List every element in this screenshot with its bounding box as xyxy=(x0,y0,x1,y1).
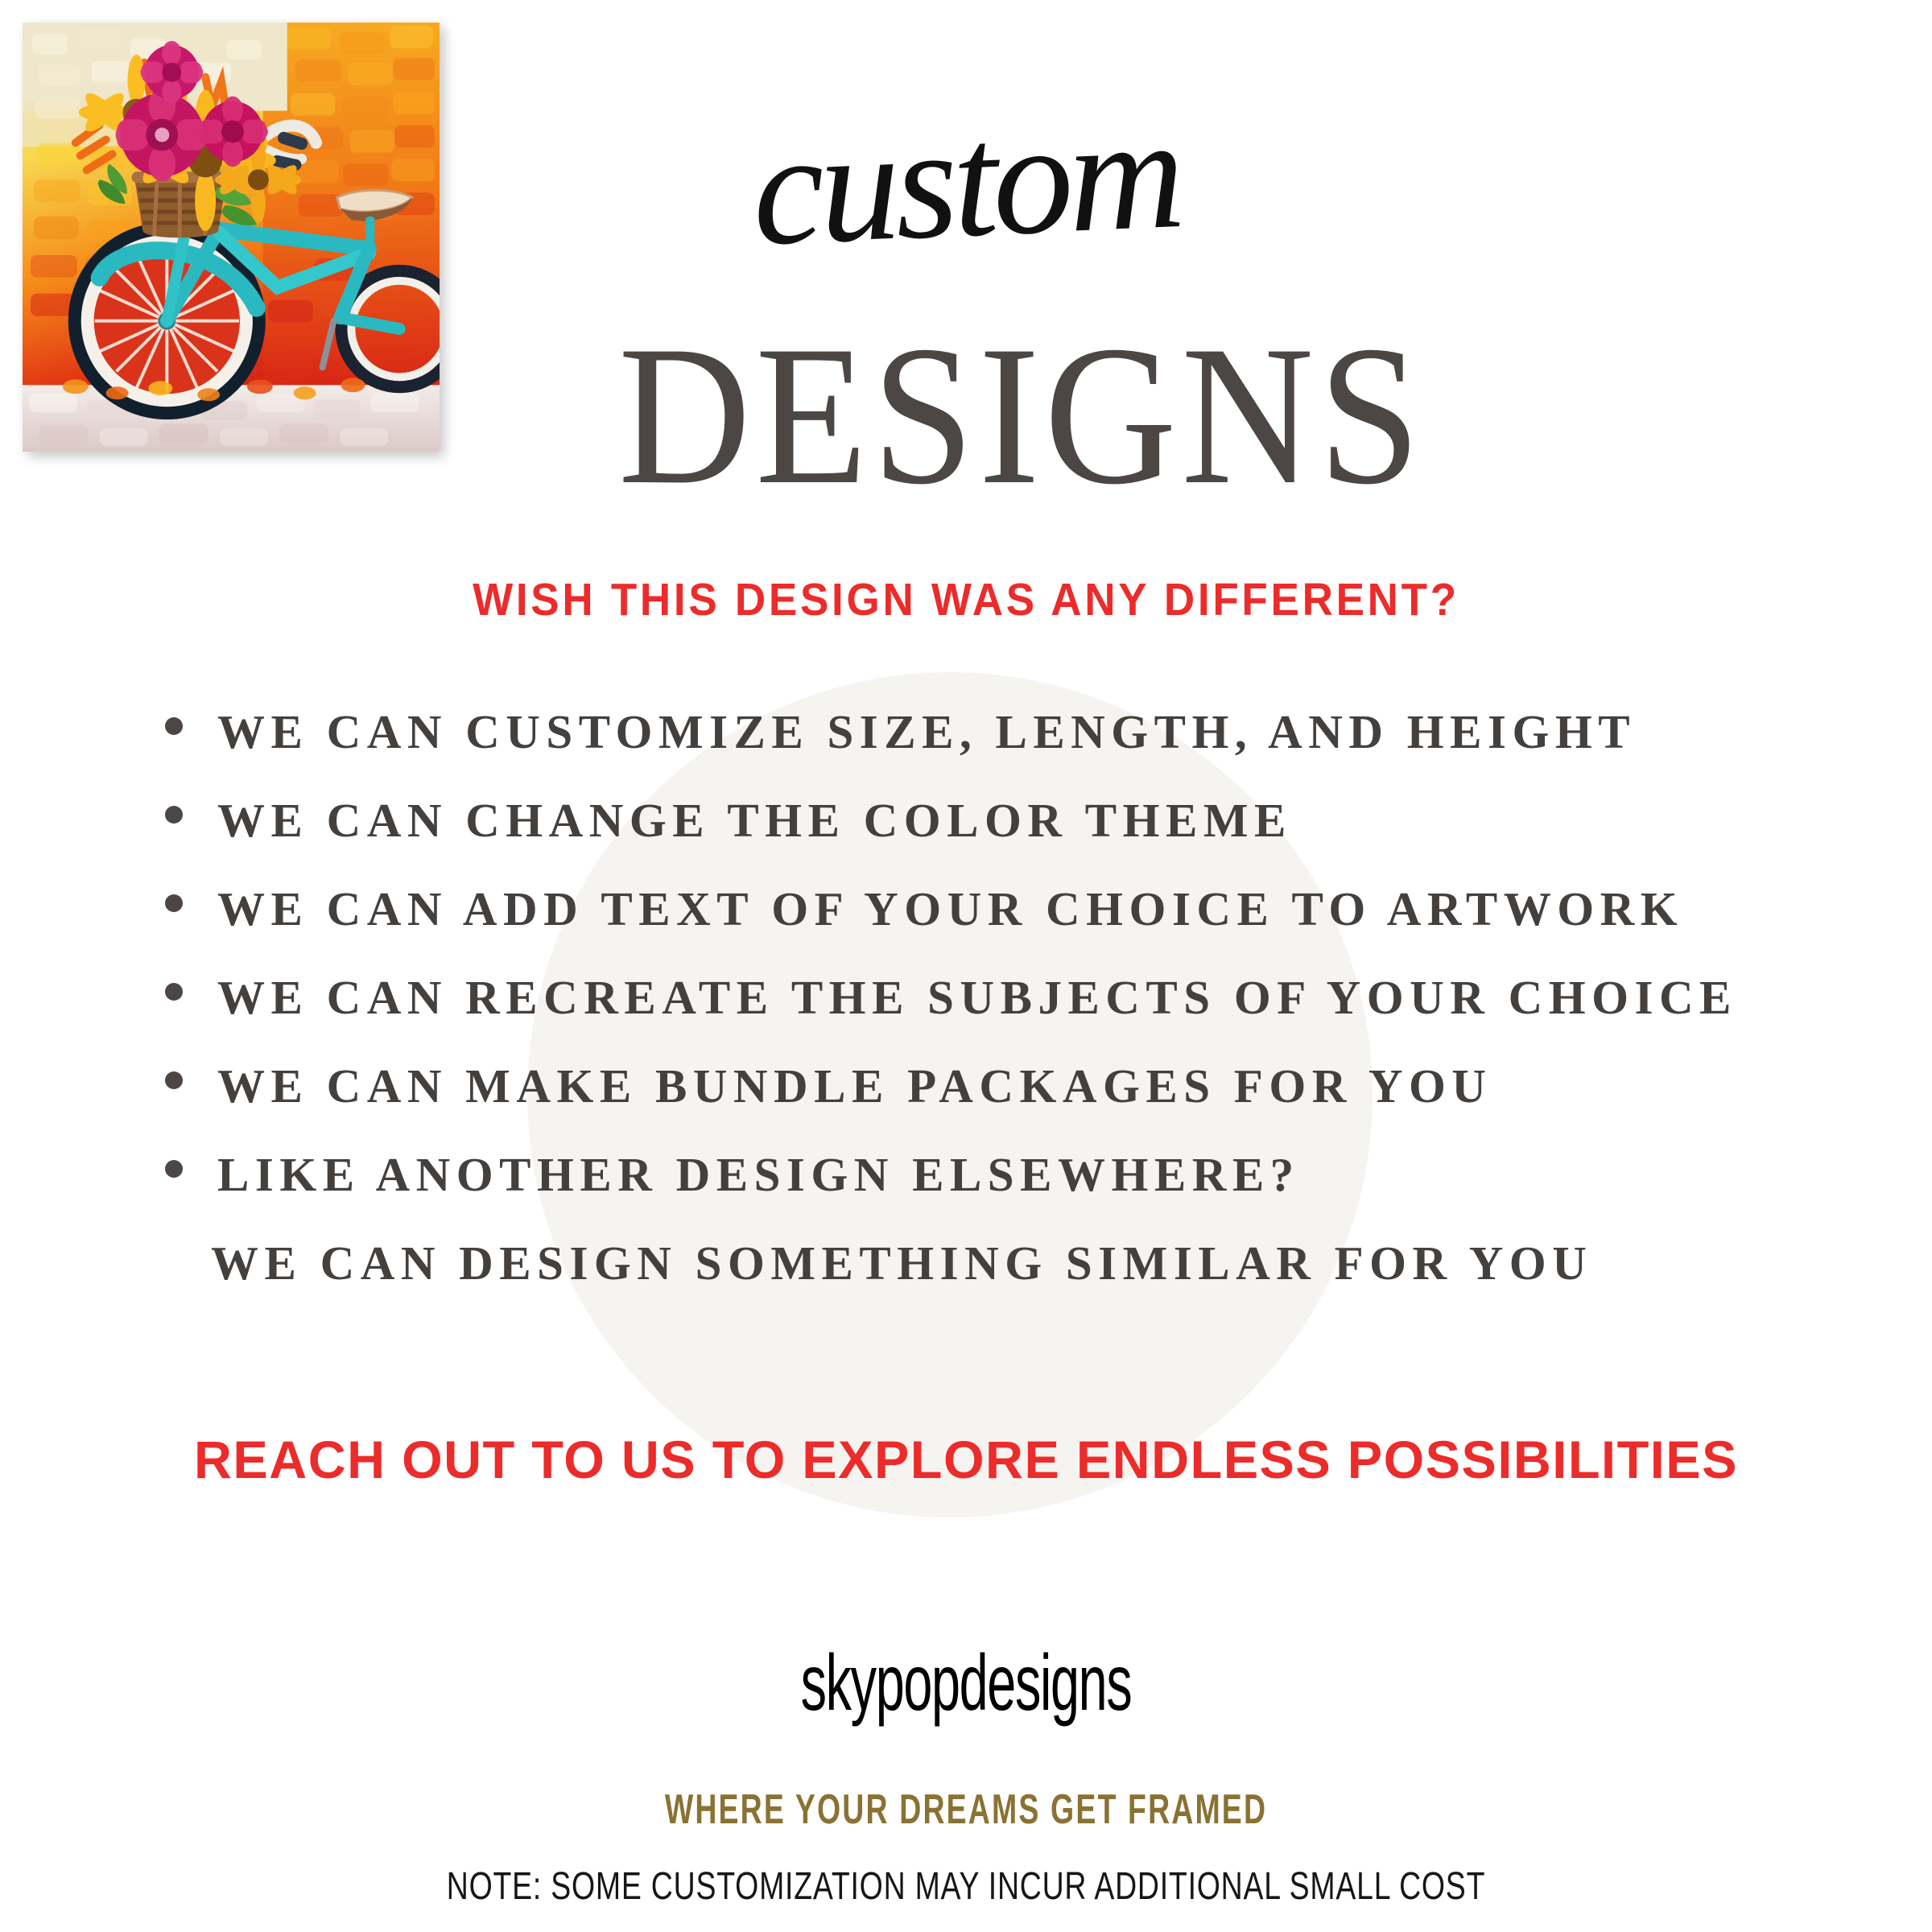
list-item: WE CAN CUSTOMIZE SIZE, LENGTH, AND HEIGH… xyxy=(0,708,1932,797)
bullet-dot-icon xyxy=(165,717,183,735)
list-item-label: WE CAN CUSTOMIZE SIZE, LENGTH, AND HEIGH… xyxy=(217,708,1636,756)
brand-tagline: WHERE YOUR DREAMS GET FRAMED xyxy=(270,1785,1662,1834)
bullet-dot-icon xyxy=(165,1160,183,1178)
footer-note: NOTE: SOME CUSTOMIZATION MAY INCUR ADDIT… xyxy=(213,1864,1719,1909)
bullet-dot-icon xyxy=(165,894,183,912)
list-item-label: WE CAN RECREATE THE SUBJECTS OF YOUR CHO… xyxy=(217,974,1737,1022)
list-item: LIKE ANOTHER DESIGN ELSEWHERE? xyxy=(0,1151,1932,1240)
bullet-dot-icon xyxy=(165,1071,183,1089)
call-to-action-text: REACH OUT TO US TO EXPLORE ENDLESS POSSI… xyxy=(14,1429,1918,1490)
brand-logo-wordmark: skypopdesigns xyxy=(328,1637,1604,1728)
feature-list: WE CAN CUSTOMIZE SIZE, LENGTH, AND HEIGH… xyxy=(0,708,1932,1328)
bullet-dot-icon xyxy=(165,806,183,824)
page-subtitle: WISH THIS DESIGN WAS ANY DIFFERENT? xyxy=(68,573,1864,626)
list-item-label: WE CAN MAKE BUNDLE PACKAGES FOR YOU xyxy=(217,1063,1492,1110)
bicycle-painting-illustration xyxy=(23,23,440,452)
list-item-continuation: WE CAN DESIGN SOMETHING SIMILAR FOR YOU xyxy=(0,1240,1932,1328)
list-item-label: WE CAN DESIGN SOMETHING SIMILAR FOR YOU xyxy=(211,1240,1592,1287)
list-item: WE CAN RECREATE THE SUBJECTS OF YOUR CHO… xyxy=(0,974,1932,1063)
list-item-label: LIKE ANOTHER DESIGN ELSEWHERE? xyxy=(217,1151,1300,1199)
list-item-label: WE CAN CHANGE THE COLOR THEME xyxy=(217,797,1292,844)
list-item: WE CAN CHANGE THE COLOR THEME xyxy=(0,797,1932,885)
list-item: WE CAN ADD TEXT OF YOUR CHOICE TO ARTWOR… xyxy=(0,885,1932,974)
list-item-label: WE CAN ADD TEXT OF YOUR CHOICE TO ARTWOR… xyxy=(217,885,1683,933)
artwork-thumbnail[interactable] xyxy=(23,23,440,452)
list-item: WE CAN MAKE BUNDLE PACKAGES FOR YOU xyxy=(0,1063,1932,1151)
bullet-dot-icon xyxy=(165,983,183,1001)
